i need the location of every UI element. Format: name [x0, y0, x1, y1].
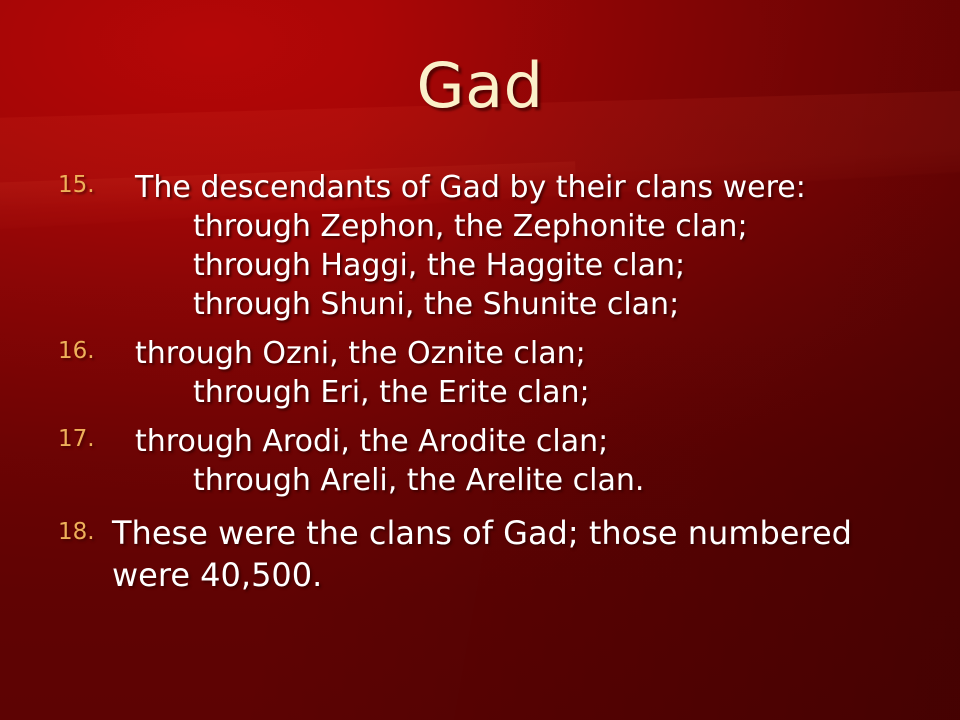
verse-line: through Haggi, the Haggite clan; — [135, 246, 928, 285]
verse-number: 15. — [58, 170, 120, 200]
verse-text: through Arodi, the Arodite clan; through… — [48, 422, 928, 500]
verse-text: These were the clans of Gad; those numbe… — [48, 512, 928, 596]
verse-line: through Ozni, the Oznite clan; — [135, 336, 586, 371]
verse-number: 16. — [58, 336, 120, 366]
verse-text: through Ozni, the Oznite clan; through E… — [48, 334, 928, 412]
verse-text: The descendants of Gad by their clans we… — [48, 168, 928, 324]
list-item: 15. The descendants of Gad by their clan… — [48, 168, 928, 324]
verse-line: through Shuni, the Shunite clan; — [135, 285, 928, 324]
verse-line: through Arodi, the Arodite clan; — [135, 424, 608, 459]
list-item: 18. These were the clans of Gad; those n… — [48, 512, 928, 596]
verse-line: The descendants of Gad by their clans we… — [135, 170, 806, 205]
list-item: 16. through Ozni, the Oznite clan; throu… — [48, 334, 928, 412]
verse-number: 17. — [58, 424, 120, 454]
slide-canvas: Gad 15. The descendants of Gad by their … — [0, 0, 960, 720]
list-item: 17. through Arodi, the Arodite clan; thr… — [48, 422, 928, 500]
verse-line: through Areli, the Arelite clan. — [135, 461, 928, 500]
slide-title: Gad — [0, 52, 960, 120]
verse-line: through Eri, the Erite clan; — [135, 373, 928, 412]
numbered-verse-list: 15. The descendants of Gad by their clan… — [48, 168, 928, 603]
verse-line: These were the clans of Gad; those numbe… — [112, 514, 852, 552]
verse-line: were 40,500. — [112, 554, 928, 596]
verse-number: 18. — [58, 517, 120, 547]
verse-line: through Zephon, the Zephonite clan; — [135, 207, 928, 246]
